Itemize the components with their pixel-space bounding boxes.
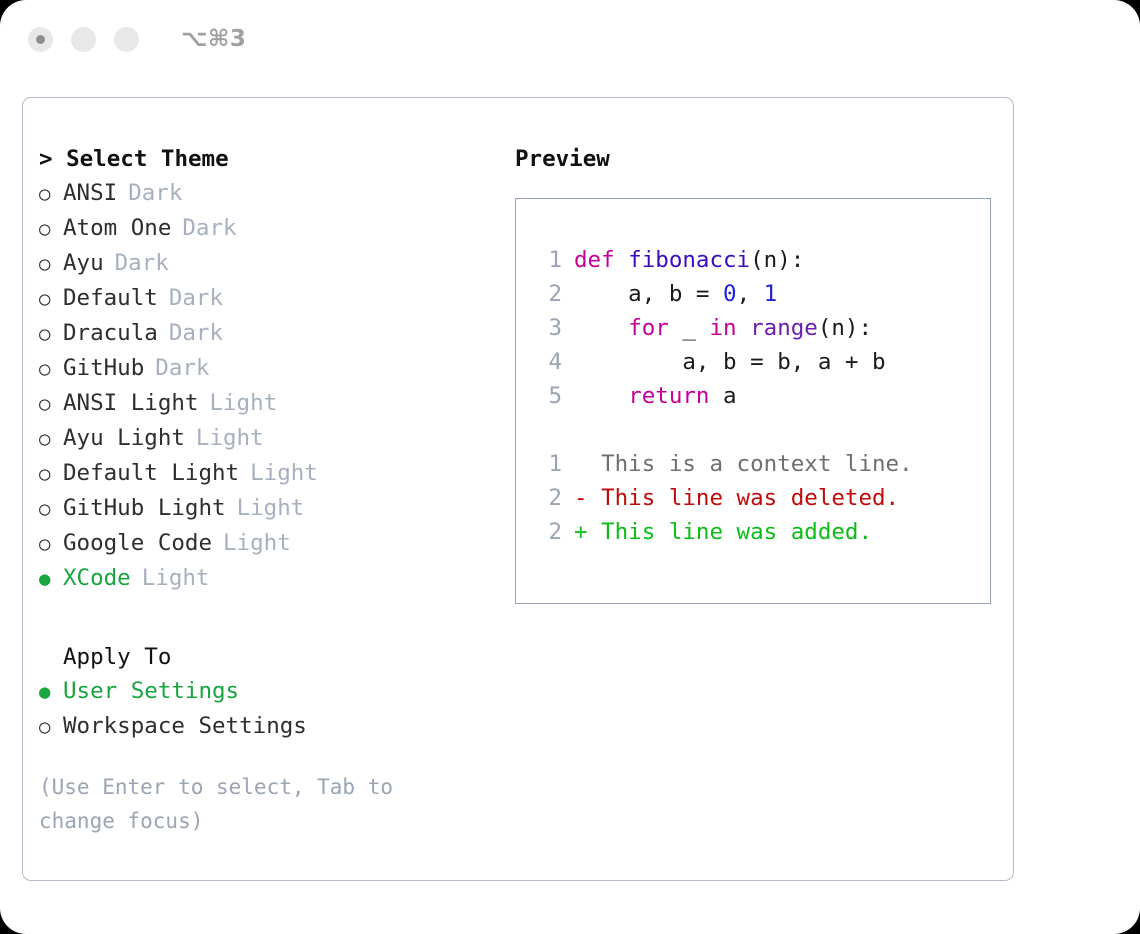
theme-option-variant-badge: Light [209, 386, 277, 420]
code-line-number: 4 [534, 345, 562, 379]
code-token-txt: _ [669, 315, 710, 341]
theme-option-label: Dracula [63, 316, 158, 350]
theme-option-label: ANSI Light [63, 386, 198, 420]
theme-option-label: ANSI [63, 176, 117, 210]
theme-option-ayu[interactable]: ○AyuDark [39, 246, 493, 281]
diff-line-add: 2+ This line was added. [534, 515, 990, 549]
theme-option-label: Default Light [63, 456, 239, 490]
code-line: 4 a, b = b, a + b [534, 345, 990, 379]
radio-unselected-icon: ○ [39, 422, 63, 456]
radio-unselected-icon: ○ [39, 212, 63, 246]
code-line-content: a, b = b, a + b [574, 345, 886, 379]
theme-option-variant-badge: Dark [155, 351, 209, 385]
window-dot-3-icon[interactable] [114, 27, 139, 52]
code-token-kw: for [628, 315, 669, 341]
theme-option-label: Ayu Light [63, 421, 185, 455]
code-line: 1def fibonacci(n): [534, 243, 990, 277]
theme-option-variant-badge: Dark [128, 176, 182, 210]
theme-option-dracula[interactable]: ○DraculaDark [39, 316, 493, 351]
preview-title: Preview [515, 142, 1013, 176]
preview-box: 1def fibonacci(n):2 a, b = 0, 13 for _ i… [515, 198, 991, 604]
radio-unselected-icon: ○ [39, 352, 63, 386]
theme-option-label: GitHub Light [63, 491, 226, 525]
theme-option-default[interactable]: ○DefaultDark [39, 281, 493, 316]
window-dot-2-icon[interactable] [71, 27, 96, 52]
radio-unselected-icon: ○ [39, 710, 63, 744]
radio-unselected-icon: ○ [39, 527, 63, 561]
radio-unselected-icon: ○ [39, 247, 63, 281]
diff-line-number: 1 [534, 447, 562, 481]
radio-unselected-icon: ○ [39, 282, 63, 316]
code-token-txt [574, 383, 628, 409]
apply-to-option-label: User Settings [63, 674, 239, 708]
theme-option-google-code[interactable]: ○Google CodeLight [39, 526, 493, 561]
theme-option-label: XCode [63, 561, 131, 595]
theme-option-label: Atom One [63, 211, 171, 245]
theme-option-label: Google Code [63, 526, 212, 560]
code-token-txt: a [709, 383, 736, 409]
theme-option-label: Default [63, 281, 158, 315]
theme-picker-column: > Select Theme ○ANSIDark○Atom OneDark○Ay… [23, 98, 493, 880]
theme-option-xcode[interactable]: ●XCodeLight [39, 561, 493, 596]
code-line: 2 a, b = 0, 1 [534, 277, 990, 311]
theme-option-variant-badge: Light [223, 526, 291, 560]
theme-option-variant-badge: Dark [169, 281, 223, 315]
apply-to-option-user-settings[interactable]: ●User Settings [39, 674, 493, 709]
code-sample: 1def fibonacci(n):2 a, b = 0, 13 for _ i… [534, 243, 990, 413]
code-token-txt: a, b = [574, 281, 723, 307]
diff-line-del: 2- This line was deleted. [534, 481, 990, 515]
theme-option-variant-badge: Light [237, 491, 305, 525]
diff-sample: 1 This is a context line.2- This line wa… [534, 447, 990, 549]
apply-to-option-workspace-settings[interactable]: ○Workspace Settings [39, 709, 493, 744]
code-line-content: return a [574, 379, 737, 413]
theme-option-variant-badge: Dark [169, 316, 223, 350]
code-token-kw: in [709, 315, 736, 341]
radio-unselected-icon: ○ [39, 317, 63, 351]
diff-line-ctx: 1 This is a context line. [534, 447, 990, 481]
code-token-txt [574, 315, 628, 341]
code-token-txt: (n): [750, 247, 804, 273]
code-token-txt: (n): [818, 315, 872, 341]
diff-line-content: - This line was deleted. [574, 481, 899, 515]
page-title: > Select Theme [39, 142, 493, 176]
apply-to-heading: Apply To [39, 640, 493, 674]
code-line-content: a, b = 0, 1 [574, 277, 777, 311]
theme-option-github[interactable]: ○GitHubDark [39, 351, 493, 386]
theme-option-ayu-light[interactable]: ○Ayu LightLight [39, 421, 493, 456]
theme-option-default-light[interactable]: ○Default LightLight [39, 456, 493, 491]
code-token-txt: a, b = b, a + b [574, 349, 886, 375]
app-window: ⌥⌘3 > Select Theme ○ANSIDark○Atom OneDar… [0, 0, 1140, 934]
keyboard-shortcut-label: ⌥⌘3 [181, 26, 246, 52]
theme-option-variant-badge: Dark [115, 246, 169, 280]
preview-column: Preview 1def fibonacci(n):2 a, b = 0, 13… [493, 98, 1013, 880]
code-token-kw: def [574, 247, 628, 273]
window-dot-1-icon[interactable] [28, 27, 53, 52]
code-line-number: 5 [534, 379, 562, 413]
theme-option-variant-badge: Light [142, 561, 210, 595]
code-token-fn: fibonacci [628, 247, 750, 273]
code-line-number: 3 [534, 311, 562, 345]
code-line: 3 for _ in range(n): [534, 311, 990, 345]
code-line-number: 1 [534, 243, 562, 277]
main-panel: > Select Theme ○ANSIDark○Atom OneDark○Ay… [22, 97, 1014, 881]
radio-unselected-icon: ○ [39, 387, 63, 421]
code-token-kw: return [628, 383, 709, 409]
code-line-number: 2 [534, 277, 562, 311]
code-line-content: for _ in range(n): [574, 311, 872, 345]
radio-unselected-icon: ○ [39, 492, 63, 526]
radio-selected-icon: ● [39, 675, 63, 709]
apply-to-option-label: Workspace Settings [63, 709, 307, 743]
keyboard-hint-text: (Use Enter to select, Tab to change focu… [39, 770, 439, 838]
theme-option-variant-badge: Light [196, 421, 264, 455]
code-line-content: def fibonacci(n): [574, 243, 804, 277]
theme-option-variant-badge: Dark [182, 211, 236, 245]
apply-to-option-list[interactable]: ●User Settings○Workspace Settings [39, 674, 493, 744]
theme-option-label: Ayu [63, 246, 104, 280]
window-controls [28, 27, 139, 52]
theme-option-ansi[interactable]: ○ANSIDark [39, 176, 493, 211]
radio-unselected-icon: ○ [39, 177, 63, 211]
title-bar: ⌥⌘3 [0, 0, 1140, 78]
diff-line-content: + This line was added. [574, 515, 872, 549]
theme-option-github-light[interactable]: ○GitHub LightLight [39, 491, 493, 526]
radio-unselected-icon: ○ [39, 457, 63, 491]
theme-option-list[interactable]: ○ANSIDark○Atom OneDark○AyuDark○DefaultDa… [39, 176, 493, 596]
theme-option-variant-badge: Light [250, 456, 318, 490]
code-token-call: range [750, 315, 818, 341]
code-line: 5 return a [534, 379, 990, 413]
theme-option-atom-one[interactable]: ○Atom OneDark [39, 211, 493, 246]
code-token-num: 1 [764, 281, 778, 307]
code-token-txt: , [737, 281, 764, 307]
theme-option-ansi-light[interactable]: ○ANSI LightLight [39, 386, 493, 421]
diff-line-number: 2 [534, 515, 562, 549]
code-token-num: 0 [723, 281, 737, 307]
diff-line-number: 2 [534, 481, 562, 515]
radio-selected-icon: ● [39, 562, 63, 596]
theme-option-label: GitHub [63, 351, 144, 385]
diff-line-content: This is a context line. [574, 447, 913, 481]
code-token-txt [737, 315, 751, 341]
